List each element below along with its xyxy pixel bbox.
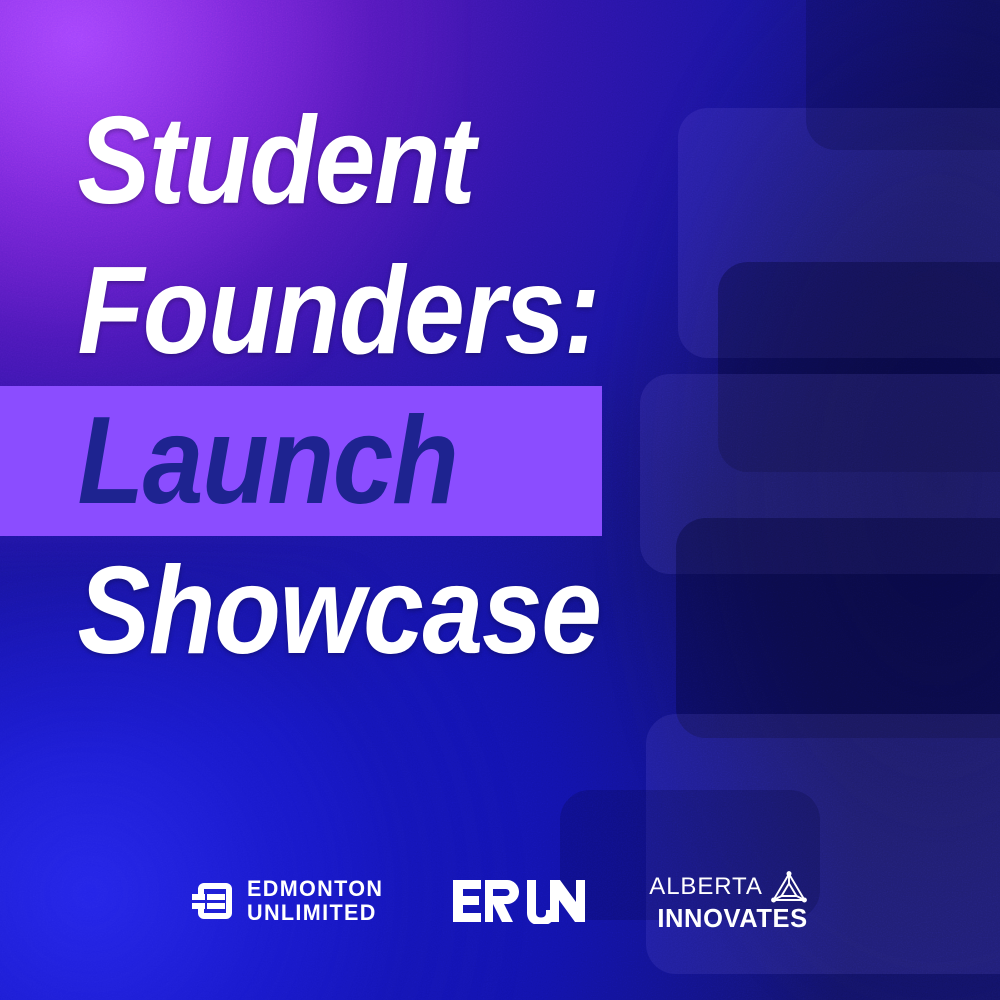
headline-text-launch: Launch <box>0 399 458 523</box>
edmonton-unlimited-line2: UNLIMITED <box>247 902 383 924</box>
promotional-poster: Student Founders: Launch Showcase EDMONT… <box>0 0 1000 1000</box>
headline-text-student: Student <box>0 99 474 223</box>
partner-logo-edmonton-unlimited: EDMONTON UNLIMITED <box>192 873 389 929</box>
headline-line-3: Launch <box>0 386 1000 536</box>
edmonton-unlimited-mark <box>192 881 234 921</box>
alberta-innovates-wordmark: ALBERTA INNOVATES <box>649 870 807 933</box>
partner-logo-erin <box>453 873 585 929</box>
partner-logo-alberta-innovates: ALBERTA INNOVATES <box>649 873 807 929</box>
headline-line-4: Showcase <box>0 536 1000 686</box>
alberta-innovates-line2: INNOVATES <box>657 907 807 933</box>
alberta-innovates-triangle-mark <box>770 870 808 904</box>
headline-line-2: Founders: <box>0 236 1000 386</box>
edmonton-unlimited-wordmark: EDMONTON UNLIMITED <box>247 878 389 924</box>
headline-text-showcase: Showcase <box>0 549 601 673</box>
erin-wordmark <box>453 878 585 924</box>
headline-line-1: Student <box>0 86 1000 236</box>
headline-block: Student Founders: Launch Showcase <box>0 86 1000 686</box>
partner-logo-row: EDMONTON UNLIMITED ALBE <box>0 866 1000 936</box>
alberta-innovates-line1: ALBERTA <box>649 875 762 899</box>
alberta-innovates-top-row: ALBERTA <box>649 870 807 904</box>
edmonton-unlimited-line1: EDMONTON <box>247 878 383 900</box>
headline-text-founders: Founders: <box>0 249 599 373</box>
